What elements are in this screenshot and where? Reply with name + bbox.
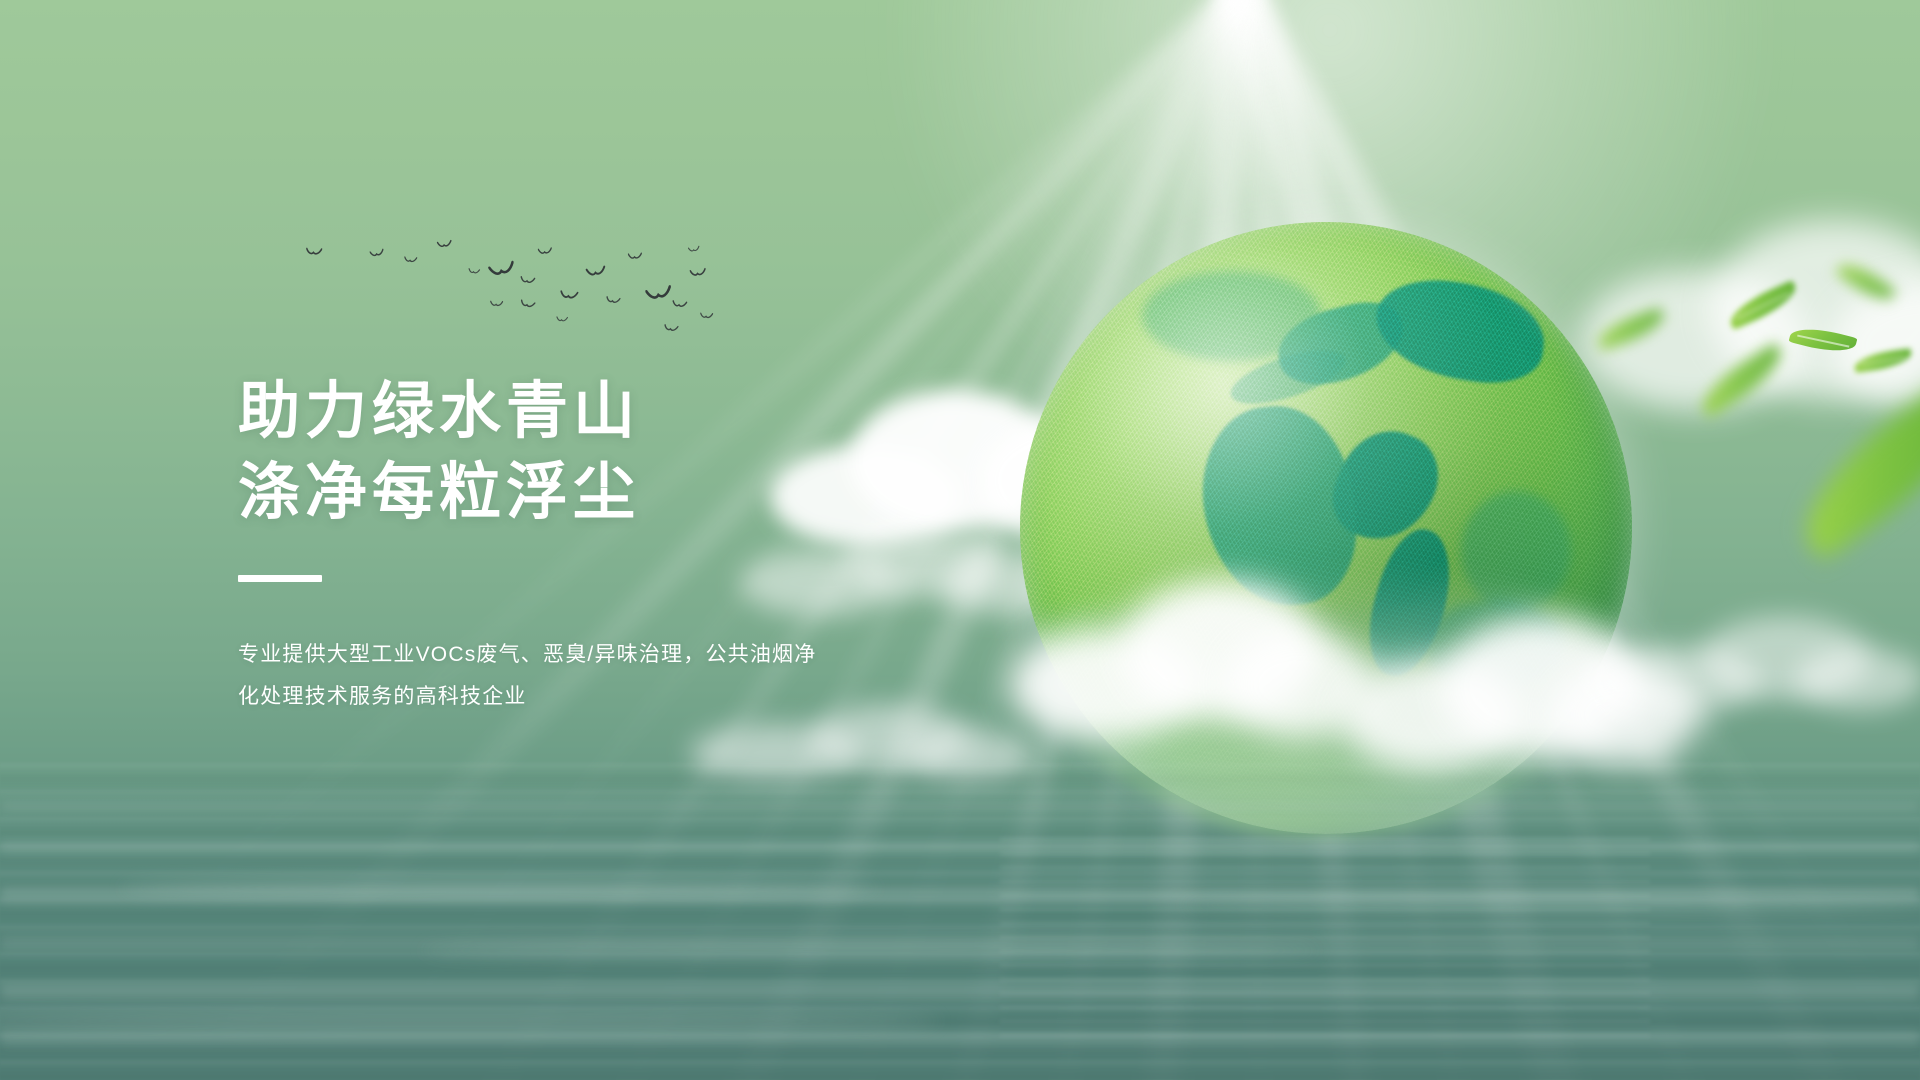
headline-divider — [238, 575, 322, 582]
subtitle-line-2: 化处理技术服务的高科技企业 — [238, 676, 928, 718]
bird-icon — [306, 246, 323, 257]
water-ripple-streaks — [0, 790, 1920, 1080]
water-wave-1 — [120, 880, 880, 896]
bird-icon — [690, 267, 707, 279]
bird-icon — [437, 239, 453, 250]
headline-line-1: 助力绿水青山 — [238, 372, 958, 453]
water-wave-4 — [1180, 898, 1920, 912]
water-wave-2 — [420, 944, 1320, 957]
bird-icon — [700, 312, 714, 321]
bird-icon — [468, 267, 481, 276]
subtitle-block: 专业提供大型工业VOCs废气、恶臭/异味治理，公共油烟净 化处理技术服务的高科技… — [238, 634, 928, 718]
headline-line-2: 涤净每粒浮尘 — [238, 453, 958, 534]
bird-icon — [556, 315, 569, 323]
bird-icon — [628, 252, 642, 261]
hero-copy-block: 助力绿水青山 涤净每粒浮尘 专业提供大型工业VOCs废气、恶臭/异味治理，公共油… — [238, 372, 958, 718]
subtitle-line-1: 专业提供大型工业VOCs废气、恶臭/异味治理，公共油烟净 — [238, 634, 928, 676]
bird-icon — [538, 247, 553, 257]
bird-icon — [404, 255, 418, 264]
bird-icon — [559, 289, 578, 302]
eco-hero-banner: 助力绿水青山 涤净每粒浮尘 专业提供大型工业VOCs废气、恶臭/异味治理，公共油… — [0, 0, 1920, 1080]
bird-icon — [671, 299, 687, 310]
bird-icon — [490, 300, 503, 309]
